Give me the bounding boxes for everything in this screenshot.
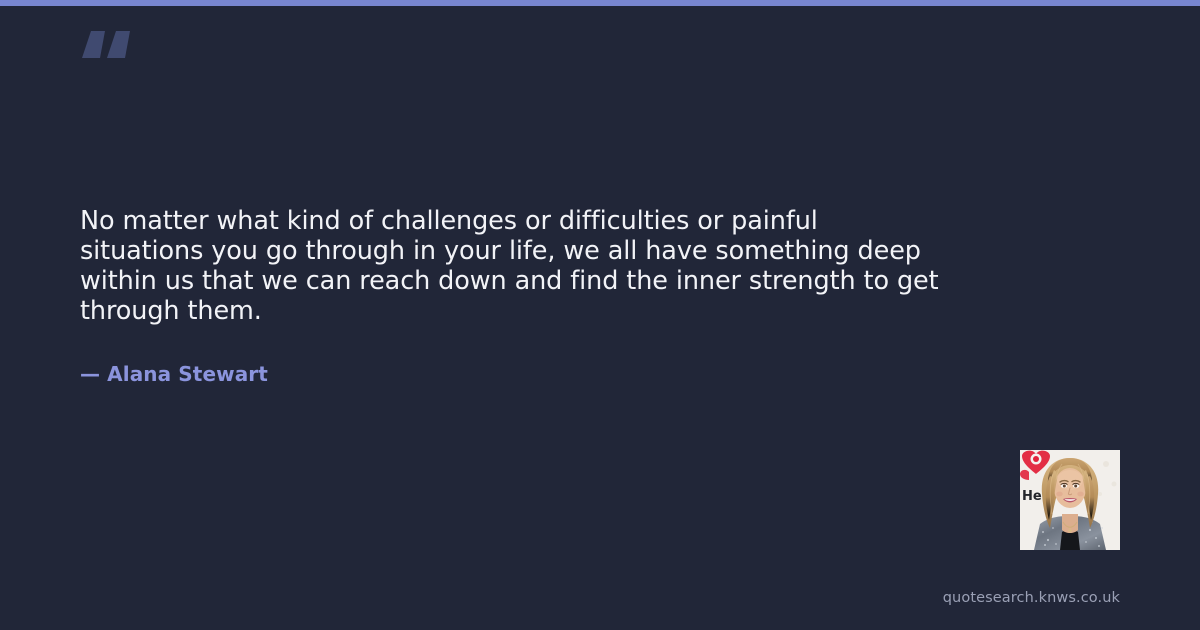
quote-author: — Alana Stewart — [80, 362, 268, 386]
quote-text: No matter what kind of challenges or dif… — [80, 206, 1020, 326]
opening-quote-icon — [78, 12, 142, 82]
author-thumbnail: He — [1020, 450, 1120, 550]
quote-card: No matter what kind of challenges or dif… — [0, 0, 1200, 630]
quote-block: No matter what kind of challenges or dif… — [80, 206, 1020, 326]
source-url: quotesearch.knws.co.uk — [943, 590, 1120, 606]
top-accent-bar — [0, 0, 1200, 6]
svg-text:He: He — [1022, 489, 1042, 504]
